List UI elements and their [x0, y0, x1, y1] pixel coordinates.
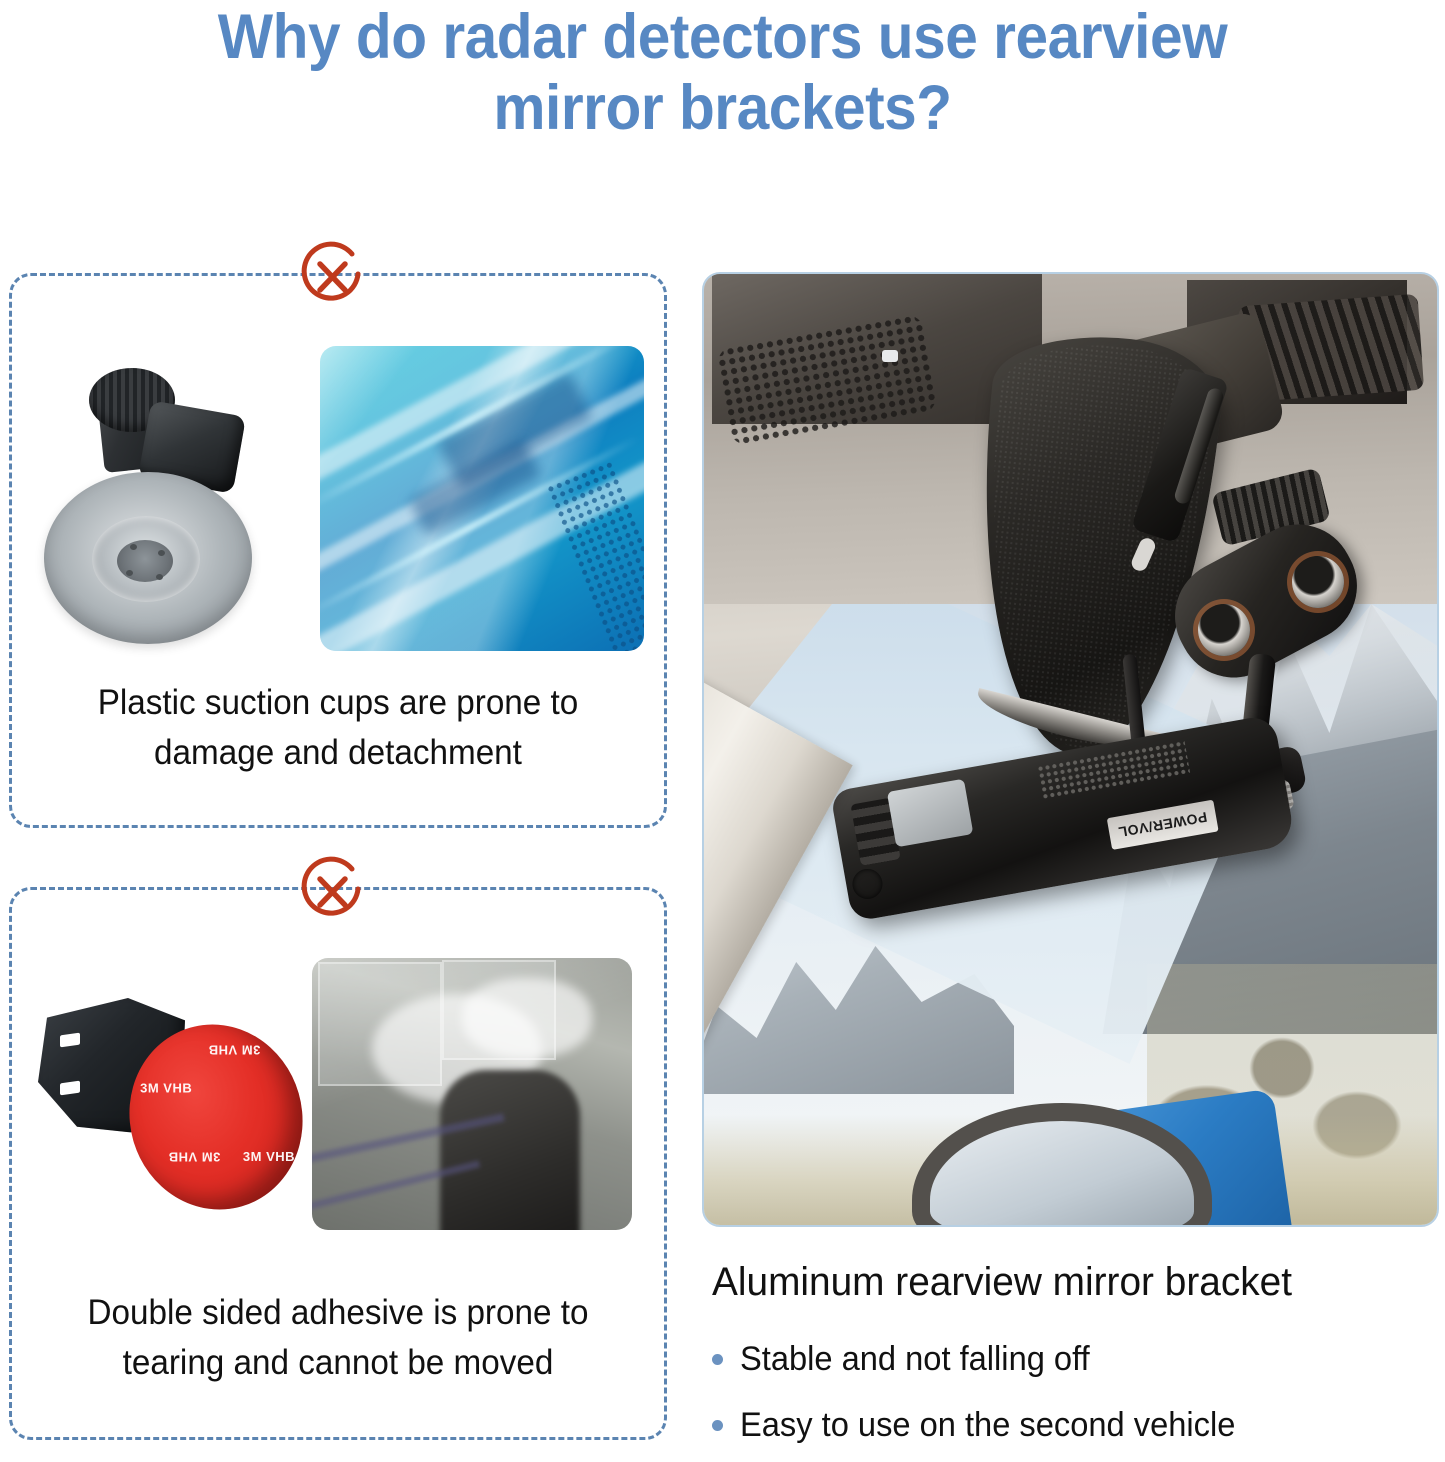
card-caption: Double sided adhesive is prone to tearin… [47, 1288, 628, 1387]
list-item-label: Stable and not falling off [740, 1339, 1090, 1380]
hero-title: Aluminum rearview mirror bracket [712, 1258, 1420, 1306]
suction-cup-photo [34, 364, 292, 649]
adhesive-residue [462, 978, 592, 1058]
windshield-residue-photo [312, 958, 632, 1230]
suction-cup-vent-dot [130, 544, 137, 550]
adhesive-pad-label: 3M VHB [208, 1042, 260, 1057]
detector-display [887, 779, 974, 848]
benefits-list: Stable and not falling off Easy to use o… [712, 1330, 1442, 1462]
list-item-label: Easy to use on the second vehicle [740, 1405, 1235, 1446]
adhesive-pad-label: 3M VHB [243, 1149, 295, 1164]
adhesive-pad-label: 3M VHB [168, 1150, 220, 1165]
dome-light [882, 350, 898, 362]
suction-cup-center [117, 540, 173, 582]
circle-x-icon [295, 855, 369, 929]
adhesive-bracket-photo: 3M VHB 3M VHB 3M VHB 3M VHB [34, 990, 306, 1240]
link-pivot-hole [1198, 604, 1250, 656]
card-caption: Plastic suction cups are prone to damage… [47, 678, 628, 777]
adhesive-pad-label: 3M VHB [140, 1081, 192, 1096]
warning-card-adhesive: 3M VHB 3M VHB 3M VHB 3M VHB Double sided… [9, 887, 667, 1440]
circle-x-icon [295, 240, 369, 314]
detector-lens [850, 867, 885, 902]
link-pivot-hole [1292, 556, 1344, 608]
bullet-dot-icon [712, 1420, 723, 1431]
list-item: Stable and not falling off [712, 1330, 1442, 1388]
page-title: Why do radar detectors use rearview mirr… [51, 2, 1395, 143]
bullet-dot-icon [712, 1354, 723, 1365]
list-item: Easy to use on the second vehicle [712, 1396, 1442, 1454]
aluminum-bracket-in-car-photo: POWER/VOL [702, 272, 1439, 1227]
suction-cup-vent-dot [126, 570, 133, 576]
detached-mount [440, 1070, 580, 1230]
detector-label: POWER/VOL [1107, 800, 1219, 850]
suction-cup-vent-dot [156, 574, 163, 580]
suction-cup-vent-dot [158, 550, 165, 556]
cracked-glass-photo [320, 346, 644, 651]
warning-card-suction-cup: Plastic suction cups are prone to damage… [9, 273, 667, 828]
